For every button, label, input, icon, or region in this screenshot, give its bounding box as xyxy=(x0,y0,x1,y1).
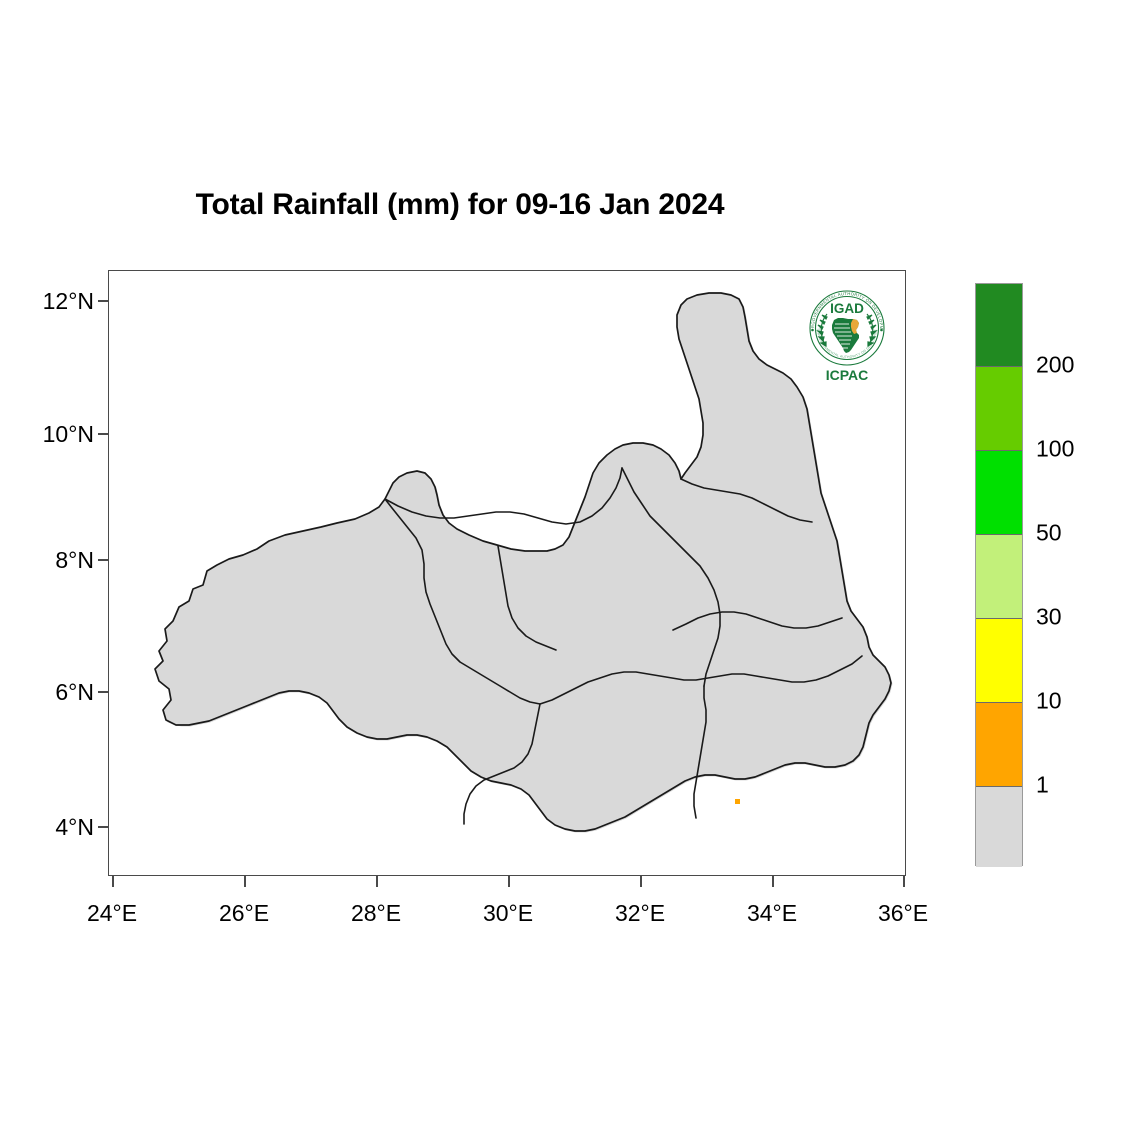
x-tick-label-34E: 34°E xyxy=(712,900,832,927)
y-tick-label-6N: 6°N xyxy=(8,679,94,706)
x-tickmark-32E xyxy=(640,876,642,887)
x-tickmark-26E xyxy=(244,876,246,887)
colorbar-separator-50 xyxy=(976,534,1022,535)
rainfall-raster-layer xyxy=(156,294,892,832)
colorbar-band-below-1[interactable] xyxy=(976,787,1022,867)
south-sudan-map xyxy=(108,270,906,876)
logo-caption: ICPAC xyxy=(826,367,869,383)
raster-fill-landmass xyxy=(156,294,892,832)
logo-dot-left xyxy=(811,329,814,332)
x-tickmark-28E xyxy=(376,876,378,887)
x-tickmark-36E xyxy=(903,876,905,887)
colorbar-label-1: 1 xyxy=(1036,772,1049,799)
rainfall-cell-orange xyxy=(735,799,740,804)
colorbar-band-1-10[interactable] xyxy=(976,703,1022,787)
colorbar-separator-10 xyxy=(976,702,1022,703)
colorbar-label-100: 100 xyxy=(1036,436,1074,463)
y-tick-label-4N: 4°N xyxy=(8,814,94,841)
colorbar-separator-1 xyxy=(976,786,1022,787)
colorbar-separator-30 xyxy=(976,618,1022,619)
igad-icpac-logo: INTERGOVERNMENTAL AUTHORITY ON DEVELOPME… xyxy=(801,280,893,384)
x-tick-label-36E: 36°E xyxy=(843,900,963,927)
x-tick-label-26E: 26°E xyxy=(184,900,304,927)
x-tickmark-24E xyxy=(112,876,114,887)
igad-logo-svg: INTERGOVERNMENTAL AUTHORITY ON DEVELOPME… xyxy=(801,280,893,384)
x-tick-label-32E: 32°E xyxy=(580,900,700,927)
rainfall-colorbar[interactable] xyxy=(975,283,1023,866)
x-tick-label-28E: 28°E xyxy=(316,900,436,927)
y-tick-label-12N: 12°N xyxy=(8,288,94,315)
map-plot-area xyxy=(108,270,906,876)
x-tick-label-30E: 30°E xyxy=(448,900,568,927)
colorbar-band-above-200[interactable] xyxy=(976,284,1022,367)
colorbar-label-50: 50 xyxy=(1036,520,1062,547)
colorbar-label-200: 200 xyxy=(1036,352,1074,379)
logo-acronym: IGAD xyxy=(830,301,864,316)
colorbar-separator-100 xyxy=(976,450,1022,451)
colorbar-band-50-100[interactable] xyxy=(976,451,1022,535)
colorbar-band-30-50[interactable] xyxy=(976,535,1022,619)
colorbar-label-30: 30 xyxy=(1036,604,1062,631)
y-tick-label-10N: 10°N xyxy=(8,421,94,448)
colorbar-separator-200 xyxy=(976,366,1022,367)
rainfall-map-figure: Total Rainfall (mm) for 09-16 Jan 2024 1… xyxy=(0,0,1125,1125)
colorbar-band-10-30[interactable] xyxy=(976,619,1022,703)
logo-dot-right xyxy=(880,329,883,332)
x-tickmark-30E xyxy=(508,876,510,887)
x-tickmark-34E xyxy=(772,876,774,887)
colorbar-band-100-200[interactable] xyxy=(976,367,1022,451)
colorbar-label-10: 10 xyxy=(1036,688,1062,715)
y-tick-label-8N: 8°N xyxy=(8,547,94,574)
x-tick-label-24E: 24°E xyxy=(52,900,172,927)
page-title: Total Rainfall (mm) for 09-16 Jan 2024 xyxy=(0,188,920,222)
